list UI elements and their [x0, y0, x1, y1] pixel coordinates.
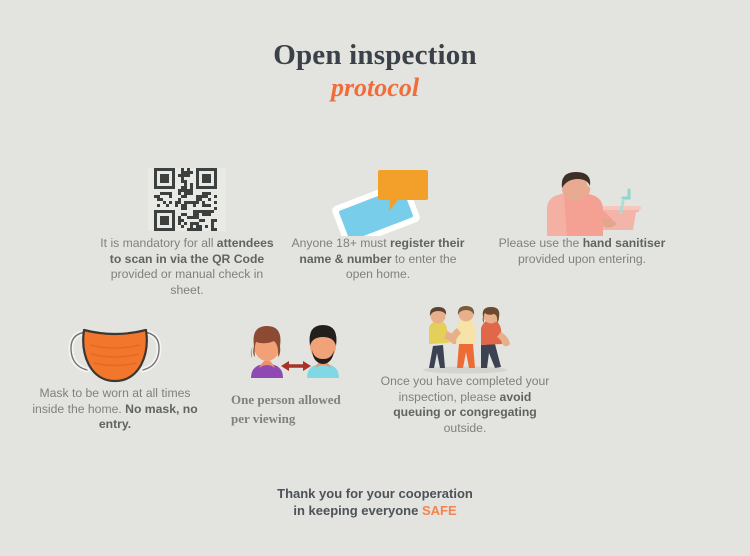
- phone-message-icon: [288, 166, 468, 236]
- group-of-people-graphic: [405, 306, 525, 374]
- two-people-distance-icon: [216, 320, 376, 382]
- caption-line-1: One person allowed: [231, 392, 341, 407]
- footer-message: Thank you for your cooperation in keepin…: [0, 485, 750, 519]
- qr-code-graphic: [148, 168, 226, 231]
- protocol-item-register: Anyone 18+ must register their name & nu…: [288, 166, 468, 283]
- qr-code-icon: [97, 166, 277, 236]
- handwashing-icon: [492, 166, 672, 236]
- protocol-item-no-queuing: Once you have completed your inspection,…: [375, 306, 555, 436]
- two-people-distance-graphic: [241, 320, 351, 382]
- qr-code-canvas: [148, 168, 226, 231]
- protocol-item-one-person: One person allowed per viewing: [216, 320, 376, 428]
- person-center: [449, 306, 476, 368]
- protocol-item-caption: Please use the hand sanitiser provided u…: [492, 236, 672, 267]
- handwashing-graphic: [517, 166, 647, 236]
- protocol-item-caption: One person allowed per viewing: [216, 390, 376, 428]
- protocol-item-qr-code: It is mandatory for all attendees to sca…: [97, 166, 277, 298]
- footer-line-1: Thank you for your cooperation: [277, 486, 473, 501]
- distance-arrow-icon: [281, 361, 311, 371]
- protocol-item-caption: Mask to be worn at all times inside the …: [25, 386, 205, 433]
- person-right: [481, 307, 510, 368]
- page-title: Open inspection protocol: [0, 40, 750, 105]
- protocol-item-mask: Mask to be worn at all times inside the …: [25, 318, 205, 433]
- footer-safe-highlight: SAFE: [422, 503, 457, 518]
- page-title-accent: protocol: [0, 72, 750, 105]
- protocol-item-caption: Anyone 18+ must register their name & nu…: [288, 236, 468, 283]
- caption-line-2: per viewing: [231, 411, 295, 426]
- protocol-item-caption: It is mandatory for all attendees to sca…: [97, 236, 277, 298]
- page-title-main: Open inspection: [0, 40, 750, 70]
- protocol-item-sanitiser: Please use the hand sanitiser provided u…: [492, 166, 672, 267]
- face-mask-icon: [25, 318, 205, 384]
- footer-line-2-prefix: in keeping everyone: [293, 503, 422, 518]
- open-inspection-protocol-poster: Open inspection protocol It is mandatory…: [0, 0, 750, 556]
- group-of-people-icon: [375, 306, 555, 374]
- protocol-item-caption: Once you have completed your inspection,…: [375, 374, 555, 436]
- face-mask-graphic: [60, 318, 170, 384]
- phone-message-graphic: [318, 166, 438, 236]
